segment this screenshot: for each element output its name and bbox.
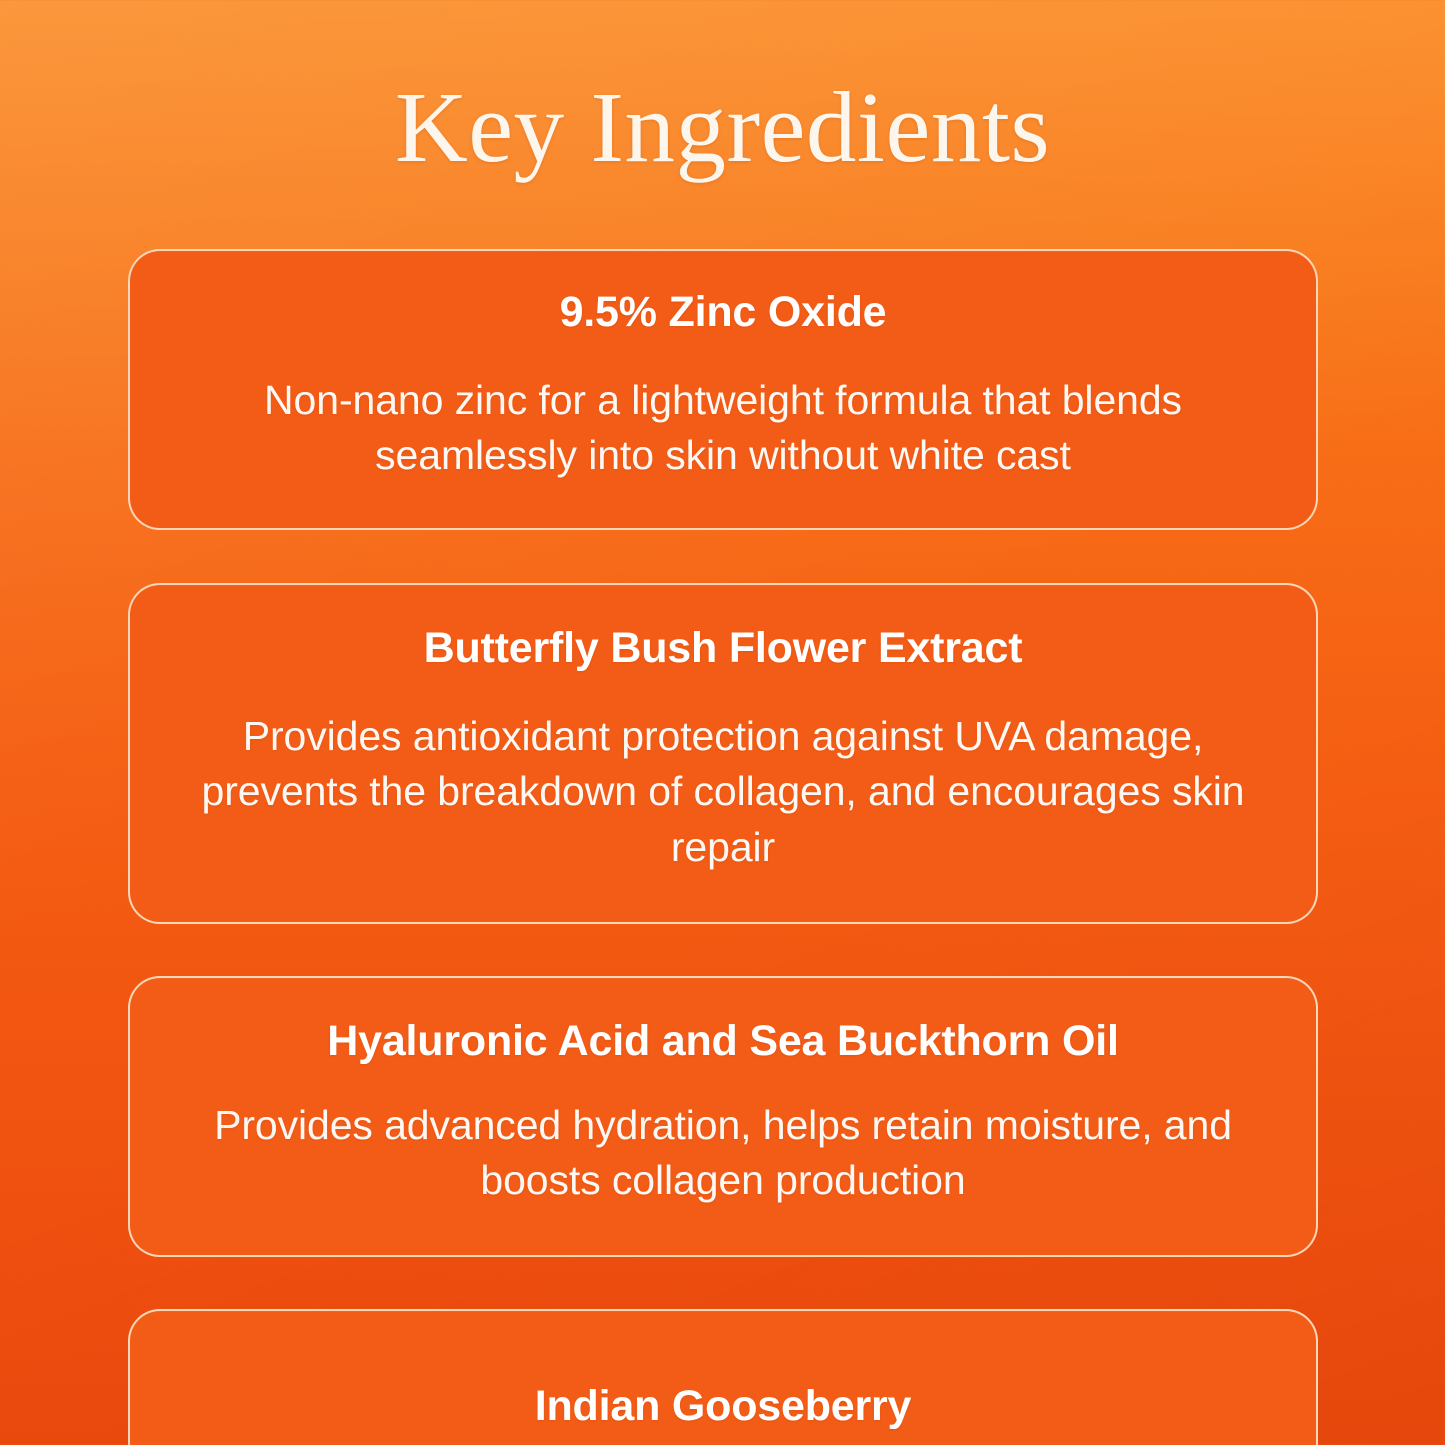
ingredient-description: Provides advanced hydration, helps retai… — [178, 1098, 1268, 1210]
ingredient-title: Indian Gooseberry — [178, 1381, 1268, 1433]
key-ingredients-page: Key Ingredients 9.5% Zinc Oxide Non-nano… — [0, 0, 1445, 1445]
ingredient-title: 9.5% Zinc Oxide — [178, 287, 1268, 339]
ingredient-description: Non-nano zinc for a lightweight formula … — [178, 373, 1268, 485]
ingredient-card-indian-gooseberry[interactable]: Indian Gooseberry Helps to re-establish … — [128, 1309, 1318, 1445]
ingredient-card-stack: 9.5% Zinc Oxide Non-nano zinc for a ligh… — [128, 249, 1318, 1445]
card-gap — [128, 1257, 1318, 1309]
ingredient-card-wrapper: Butterfly Bush Flower Extract Provides a… — [128, 583, 1318, 924]
ingredient-title: Hyaluronic Acid and Sea Buckthorn Oil — [178, 1016, 1268, 1068]
ingredient-card-wrapper: Indian Gooseberry Helps to re-establish … — [128, 1309, 1318, 1445]
ingredient-card-zinc-oxide[interactable]: 9.5% Zinc Oxide Non-nano zinc for a ligh… — [128, 249, 1318, 530]
card-gap — [128, 924, 1318, 976]
ingredient-card-butterfly-bush-flower-extract[interactable]: Butterfly Bush Flower Extract Provides a… — [128, 583, 1318, 924]
ingredient-title: Butterfly Bush Flower Extract — [186, 623, 1260, 675]
card-gap — [128, 530, 1318, 583]
ingredient-card-wrapper: Hyaluronic Acid and Sea Buckthorn Oil Pr… — [128, 976, 1318, 1257]
page-title: Key Ingredients — [0, 74, 1445, 180]
ingredient-card-wrapper: 9.5% Zinc Oxide Non-nano zinc for a ligh… — [128, 249, 1318, 530]
ingredient-description: Provides antioxidant protection against … — [186, 709, 1260, 876]
ingredient-card-hyaluronic-acid-sea-buckthorn-oil[interactable]: Hyaluronic Acid and Sea Buckthorn Oil Pr… — [128, 976, 1318, 1257]
